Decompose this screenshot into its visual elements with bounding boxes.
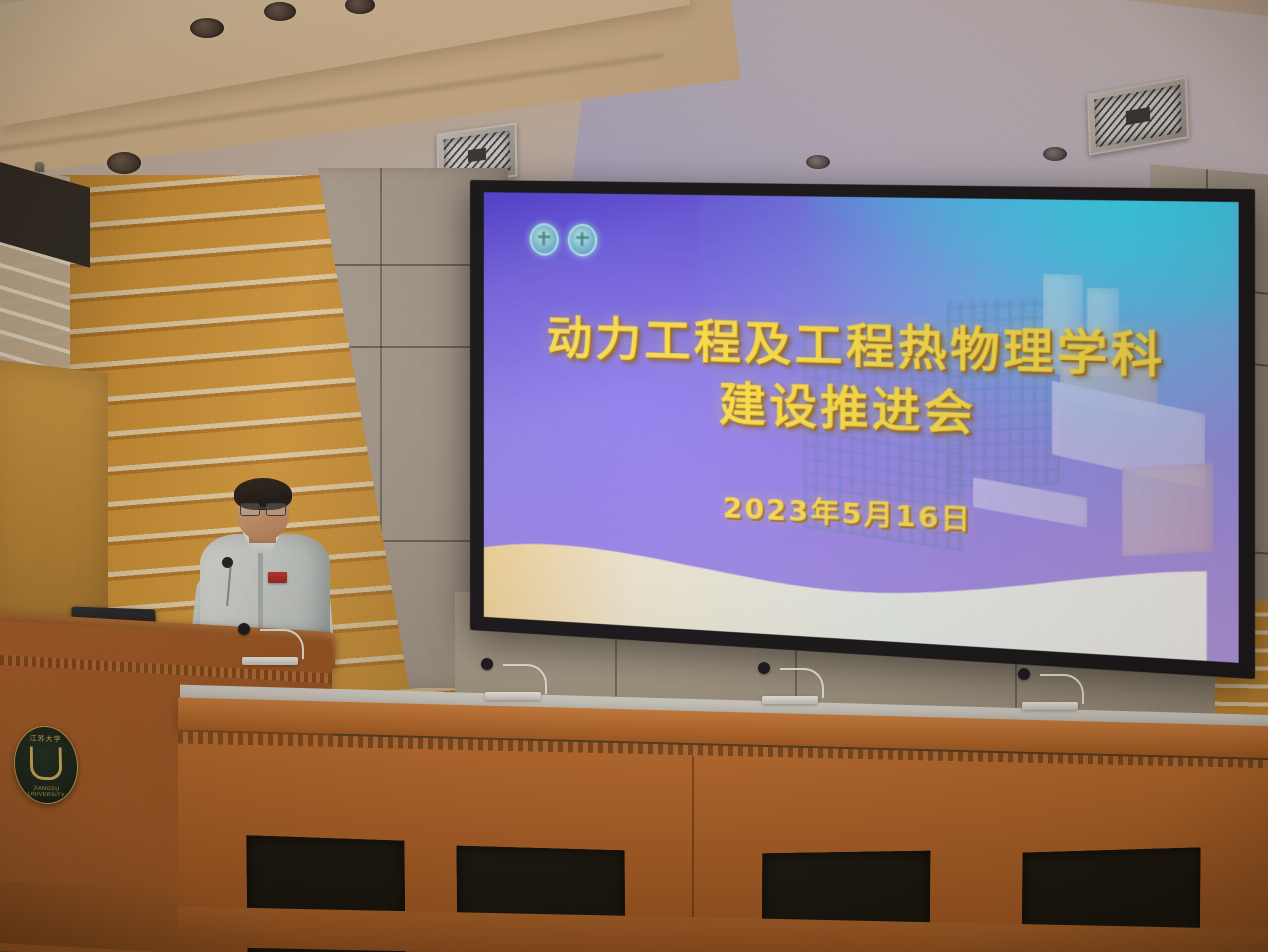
ceiling-downlight-icon [806,155,830,169]
emblem-cn-text: 江苏大学 [14,733,76,745]
speaker-glasses-icon [240,503,286,514]
ceiling-downlight-icon [264,2,296,21]
podium-mic-head-icon[interactable] [222,557,233,568]
ceiling-downlight-icon [190,18,224,38]
university-seal-right-icon [567,223,596,256]
ceiling-downlight-icon [107,152,141,174]
emblem-en-text: JIANGSU UNIVERSITY [15,785,77,799]
lecture-hall-scene: 动力工程及工程热物理学科 建设推进会 2023年5月16日 江苏大学 JIANG… [0,0,1268,952]
speaker-name-badge [268,572,287,583]
jiangsu-university-emblem-icon: 江苏大学 JIANGSU UNIVERSITY [13,725,78,805]
ceiling-downlight-icon [1043,147,1067,161]
speaker-shirt-placket [258,548,263,640]
slide-title: 动力工程及工程热物理学科 建设推进会 [484,307,1239,457]
university-seal-left-icon [529,223,558,256]
projected-slide: 动力工程及工程热物理学科 建设推进会 2023年5月16日 [484,192,1239,663]
projection-screen[interactable]: 动力工程及工程热物理学科 建设推进会 2023年5月16日 [470,180,1255,679]
emblem-u-letter [30,746,63,780]
slide-logo-group [529,223,597,257]
